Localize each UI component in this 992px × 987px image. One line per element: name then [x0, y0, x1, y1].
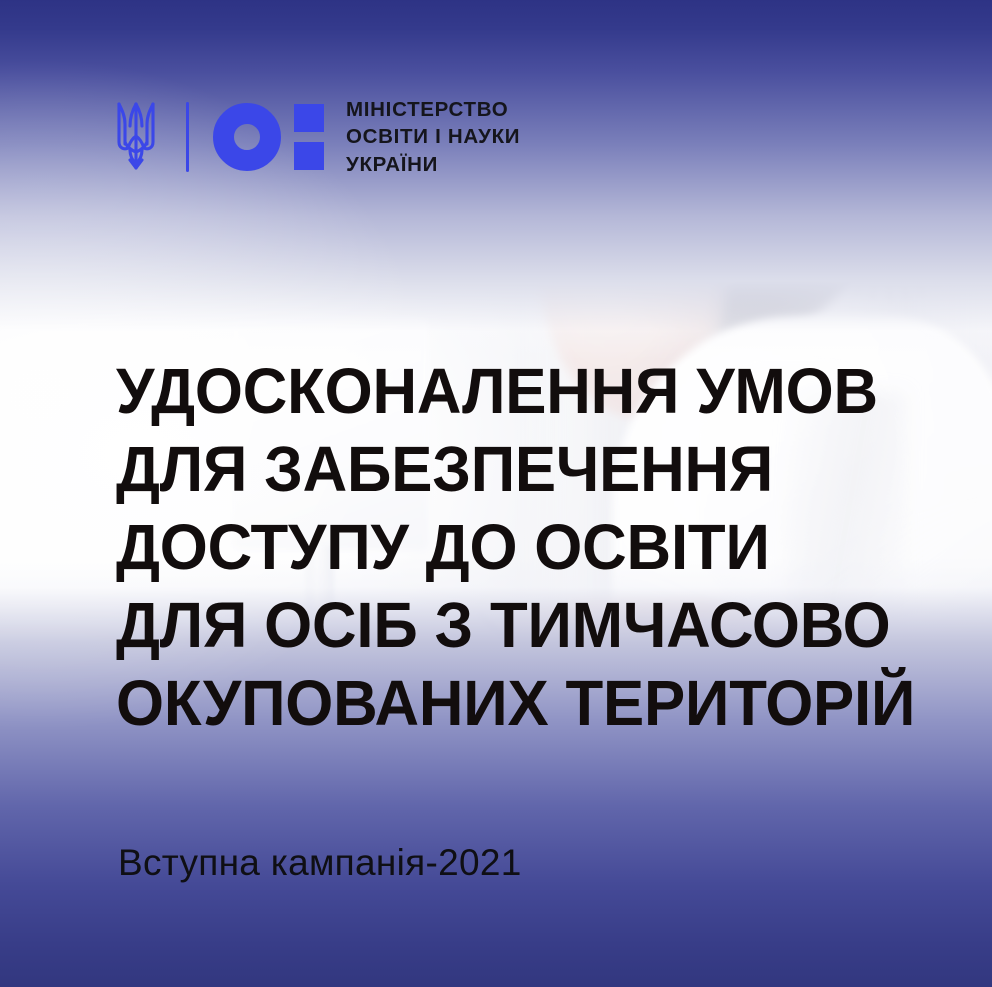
page-title: УДОСКОНАЛЕННЯ УМОВ ДЛЯ ЗАБЕЗПЕЧЕННЯ ДОСТ… — [116, 352, 976, 742]
headline-line-4: ДЛЯ ОСІБ З ТИМЧАСОВО — [116, 586, 946, 664]
headline-line-1: УДОСКОНАЛЕННЯ УМОВ — [116, 352, 946, 430]
headline-line-2: ДЛЯ ЗАБЕЗПЕЧЕННЯ — [116, 430, 946, 508]
ukraine-trident-icon — [108, 98, 164, 176]
ministry-name-line-2: ОСВІТИ І НАУКИ — [346, 123, 520, 150]
poster-canvas: МІНІСТЕРСТВО ОСВІТИ І НАУКИ УКРАЇНИ УДОС… — [0, 0, 992, 987]
logo-bar-top — [294, 104, 324, 132]
mon-ring-and-bars-icon — [213, 103, 324, 171]
logo-ring-icon — [213, 103, 281, 171]
headline-line-5: ОКУПОВАНИХ ТЕРИТОРІЙ — [116, 664, 946, 742]
headline-line-3: ДОСТУПУ ДО ОСВІТИ — [116, 508, 946, 586]
ministry-name-line-3: УКРАЇНИ — [346, 151, 520, 178]
ministry-logo-lockup: МІНІСТЕРСТВО ОСВІТИ І НАУКИ УКРАЇНИ — [108, 96, 520, 178]
logo-bars-icon — [294, 104, 324, 170]
logo-divider — [186, 102, 189, 172]
logo-bar-bottom — [294, 142, 324, 170]
campaign-subtitle: Вступна кампанія-2021 — [118, 842, 522, 884]
ministry-name: МІНІСТЕРСТВО ОСВІТИ І НАУКИ УКРАЇНИ — [346, 96, 520, 178]
ministry-name-line-1: МІНІСТЕРСТВО — [346, 96, 520, 123]
